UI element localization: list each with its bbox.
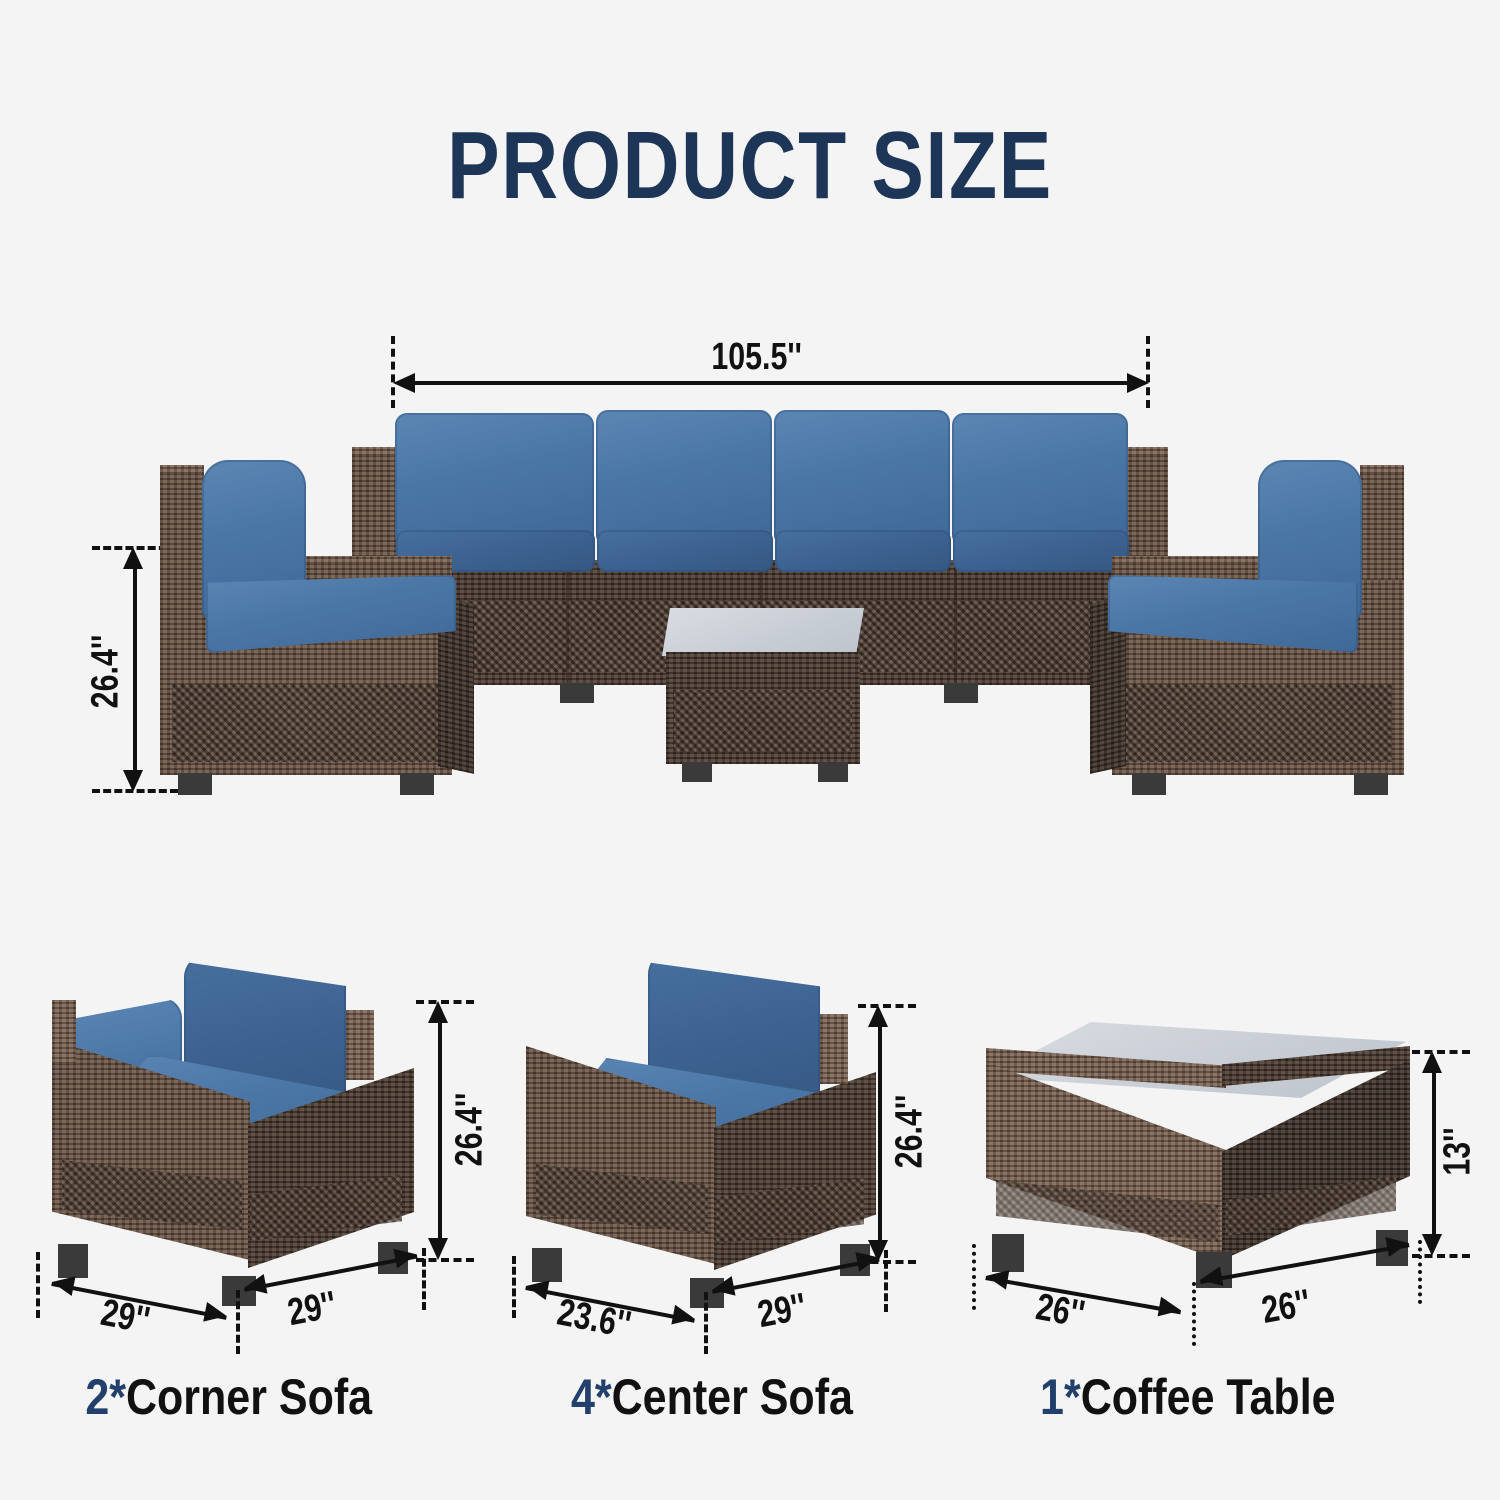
- dim-line-width-main: [400, 381, 1142, 385]
- front-left-sofa-leg-2: [400, 773, 434, 795]
- back-cushion-4: [952, 413, 1128, 545]
- corner-dim-ext-br: [422, 1248, 426, 1310]
- corner-dim-label-right: 29'': [284, 1284, 340, 1335]
- back-row-right-arm-top: [1122, 447, 1168, 456]
- corner-dim-line-height: [438, 1012, 442, 1248]
- front-left-sofa-armpost-top: [160, 465, 204, 474]
- coffee-dim-label-right: 26'': [1259, 1282, 1314, 1333]
- corner-sofa-caption: 2*Corner Sofa: [85, 1368, 372, 1426]
- coffee-table-caption: 1*Coffee Table: [1040, 1368, 1336, 1426]
- center-dim-label-height: 26.4'': [889, 1095, 932, 1169]
- coffee-dim-line-height: [1432, 1062, 1436, 1244]
- corner-dim-ext-mid: [236, 1290, 240, 1354]
- dim-extension-right: [1146, 336, 1150, 408]
- corner-dim-ext-bl: [36, 1252, 40, 1318]
- back-cushion-3: [774, 410, 950, 545]
- center-dim-line-height: [878, 1016, 882, 1250]
- dim-arrow-down-main: [123, 770, 143, 792]
- seat-cushion-4: [953, 530, 1129, 572]
- front-right-sofa-armpost: [1360, 470, 1404, 580]
- coffee-dim-ext-br: [1418, 1240, 1422, 1304]
- back-row-seam-1: [566, 560, 569, 685]
- coffee-table-leg-1: [992, 1234, 1024, 1272]
- dim-line-height-main: [133, 558, 137, 780]
- center-sofa-caption: 4*Center Sofa: [571, 1368, 853, 1426]
- corner-dim-arrow-down: [428, 1238, 448, 1260]
- back-row-leg-2: [560, 683, 594, 703]
- center-dim-label-left: 23.6'': [554, 1291, 634, 1347]
- coffee-dim-ext-mid: [1192, 1282, 1196, 1346]
- center-sofa-back-post: [820, 1014, 848, 1084]
- back-row-leg-4: [944, 683, 978, 703]
- back-cushion-2: [596, 410, 772, 545]
- main-coffee-table-leg-2: [818, 762, 848, 782]
- corner-dim-arrow-up: [428, 1001, 448, 1023]
- front-right-sofa-mesh: [1124, 684, 1392, 762]
- corner-sofa-arm-right: [346, 1010, 374, 1080]
- center-sofa-name: Center Sofa: [612, 1369, 853, 1425]
- corner-dim-label-left: 29'': [97, 1292, 153, 1343]
- coffee-dim-arrow-up: [1422, 1051, 1442, 1073]
- center-sofa-count: 4*: [571, 1369, 612, 1425]
- dim-arrow-left: [393, 373, 415, 393]
- corner-sofa-arm-left: [52, 1000, 76, 1064]
- center-dim-label-right: 29'': [754, 1286, 810, 1337]
- coffee-dim-arrow-down: [1422, 1234, 1442, 1256]
- coffee-dim-label-height: 13'': [1437, 1127, 1480, 1175]
- front-right-sofa-leg-1: [1132, 773, 1166, 795]
- corner-dim-label-height: 26.4'': [449, 1093, 492, 1167]
- main-coffee-table-mesh: [674, 690, 852, 752]
- center-dim-arrow-up: [868, 1005, 888, 1027]
- center-dim-ext-mid: [704, 1292, 708, 1354]
- front-left-sofa-armpost: [160, 470, 204, 580]
- dim-arrow-up-main: [123, 547, 143, 569]
- seat-cushion-3: [775, 530, 951, 572]
- center-dim-ext-br: [884, 1250, 888, 1312]
- front-left-sofa-leg-1: [178, 773, 212, 795]
- back-row-seam-3: [954, 560, 957, 685]
- coffee-table-count: 1*: [1040, 1369, 1081, 1425]
- front-right-sofa-armpost-top: [1360, 465, 1404, 474]
- center-dim-ext-bl: [512, 1256, 516, 1318]
- corner-sofa-name: Corner Sofa: [126, 1369, 372, 1425]
- dim-arrow-right: [1127, 373, 1149, 393]
- coffee-dim-label-left: 26'': [1033, 1286, 1088, 1337]
- seat-cushion-2: [597, 530, 773, 572]
- main-coffee-table-glass: [662, 608, 864, 656]
- main-coffee-table-leg-1: [682, 762, 712, 782]
- front-right-sofa-leg-2: [1354, 773, 1388, 795]
- dim-label-main-width: 105.5'': [711, 336, 802, 379]
- coffee-table-name: Coffee Table: [1081, 1369, 1336, 1425]
- front-left-sofa-mesh: [172, 684, 440, 762]
- back-row-left-arm-top: [352, 447, 398, 456]
- dim-label-main-height: 26.4'': [85, 635, 128, 709]
- page-title: PRODUCT SIZE: [135, 118, 1365, 214]
- back-cushion-1: [395, 413, 594, 545]
- coffee-dim-ext-bl: [972, 1244, 976, 1310]
- corner-sofa-count: 2*: [85, 1369, 126, 1425]
- dim-extension-left: [391, 336, 395, 408]
